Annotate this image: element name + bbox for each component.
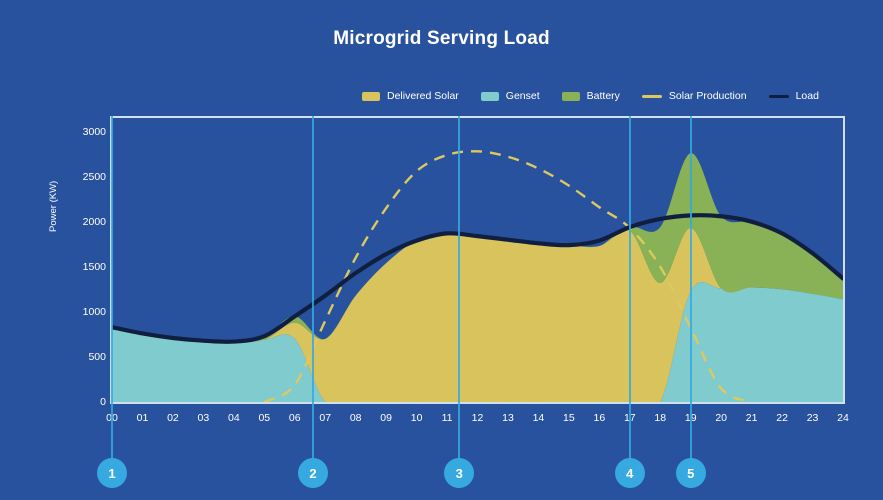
x-axis: 0001020304050607080910111213141516171819… [110,412,845,432]
marker-line-5 [690,116,692,463]
y-axis-tick: 2000 [83,216,106,228]
x-axis-tick: 13 [502,412,514,424]
x-axis-tick: 24 [837,412,849,424]
legend-swatch-solar-production-icon [642,95,662,98]
marker-line-3 [458,116,460,463]
x-axis-tick: 03 [198,412,210,424]
x-axis-tick: 02 [167,412,179,424]
x-axis-tick: 10 [411,412,423,424]
marker-dot-2[interactable]: 2 [298,458,328,488]
y-axis-tick: 1500 [83,261,106,273]
y-axis-title: Power (KW) [48,181,59,232]
marker-dot-3[interactable]: 3 [444,458,474,488]
x-axis-tick: 06 [289,412,301,424]
page-title: Microgrid Serving Load [0,28,883,50]
x-axis-tick: 07 [319,412,331,424]
x-axis-tick: 15 [563,412,575,424]
marker-line-4 [629,116,631,463]
marker-dot-4[interactable]: 4 [615,458,645,488]
legend-swatch-battery-icon [562,92,580,101]
y-axis: 050010001500200025003000 [46,110,106,410]
legend-label: Solar Production [669,90,747,102]
x-axis-tick: 12 [472,412,484,424]
x-axis-tick: 01 [137,412,149,424]
y-axis-tick: 500 [88,351,106,363]
x-axis-tick: 22 [776,412,788,424]
x-axis-tick: 16 [593,412,605,424]
legend-item-delivered-solar[interactable]: Delivered Solar [362,90,459,102]
legend-label: Battery [587,90,620,102]
chart-legend: Delivered SolarGensetBatterySolar Produc… [362,87,841,105]
legend-item-genset[interactable]: Genset [481,90,540,102]
x-axis-tick: 11 [442,412,453,424]
y-axis-tick: 2500 [83,171,106,183]
legend-swatch-load-icon [769,95,789,98]
legend-label: Load [796,90,819,102]
legend-label: Delivered Solar [387,90,459,102]
x-axis-tick: 14 [533,412,545,424]
legend-item-solar-production[interactable]: Solar Production [642,90,747,102]
y-axis-tick: 3000 [83,126,106,138]
legend-swatch-delivered-solar-icon [362,92,380,101]
x-axis-tick: 04 [228,412,240,424]
legend-item-load[interactable]: Load [769,90,819,102]
y-axis-tick: 1000 [83,306,106,318]
x-axis-tick: 08 [350,412,362,424]
plot-area [110,116,845,404]
x-axis-tick: 18 [654,412,666,424]
marker-dot-5[interactable]: 5 [676,458,706,488]
marker-line-1 [111,116,113,463]
legend-swatch-genset-icon [481,92,499,101]
marker-line-2 [312,116,314,463]
marker-dot-1[interactable]: 1 [97,458,127,488]
y-axis-tick: 0 [100,396,106,408]
x-axis-tick: 21 [746,412,758,424]
chart-canvas [112,118,843,402]
x-axis-tick: 09 [380,412,392,424]
x-axis-tick: 05 [258,412,270,424]
legend-item-battery[interactable]: Battery [562,90,620,102]
x-axis-tick: 20 [715,412,727,424]
x-axis-tick: 23 [807,412,819,424]
chart-page: Microgrid Serving Load Delivered SolarGe… [0,0,883,500]
legend-label: Genset [506,90,540,102]
